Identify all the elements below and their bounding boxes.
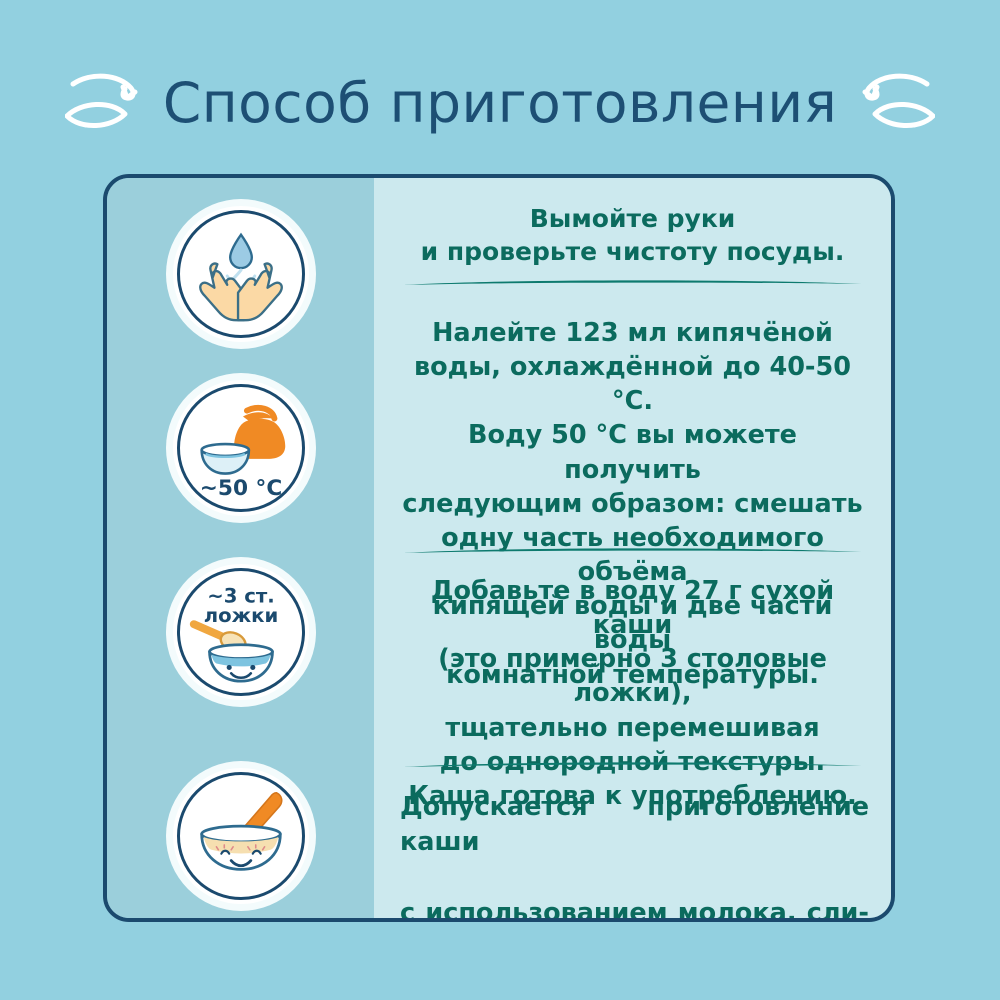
porridge-bowl-spoon-icon: [173, 768, 309, 904]
kettle-pouring-bowl-icon: ~50 °C: [173, 380, 309, 516]
divider-1: [402, 278, 863, 288]
page-title: Способ приготовления: [163, 76, 837, 131]
svg-text:ложки: ложки: [203, 604, 278, 627]
text-column: Вымойте руки и проверьте чистоту посуды.…: [374, 178, 891, 918]
step-4-line-2: с использованием молока, сли-: [400, 896, 869, 922]
step-3-line-2: (это примерно 3 столовые ложки),: [396, 642, 869, 710]
step-2-line-3: Воду 50 °C вы можете получить: [396, 418, 869, 486]
leaf-flourish-icon: [65, 68, 145, 138]
divider-3: [402, 760, 863, 770]
step-3-line-3: тщательно перемешивая: [396, 711, 869, 745]
title-row: Способ приготовления: [0, 58, 1000, 148]
spoon-pouring-bowl-icon: ~3 ст. ложки: [173, 564, 309, 700]
divider-2: [402, 546, 863, 556]
step-1-line-1: Вымойте руки: [396, 202, 869, 235]
step-2-line-1: Налейте 123 мл кипячёной: [396, 316, 869, 350]
step-1-text: Вымойте руки и проверьте чистоту посуды.: [374, 202, 891, 268]
svg-text:~50 °C: ~50 °C: [199, 476, 281, 501]
step-2-line-2: воды, охлаждённой до 40-50 °C.: [396, 350, 869, 418]
step-2-line-4: следующим образом: смешать: [396, 487, 869, 521]
step-3-text: Добавьте в воду 27 г сухой каши (это при…: [374, 574, 891, 813]
step-4-text: Допускается приготовление каши с использ…: [374, 790, 891, 922]
washing-hands-icon: [173, 206, 309, 342]
leaf-flourish-icon: [855, 68, 935, 138]
step-3-line-1: Добавьте в воду 27 г сухой каши: [396, 574, 869, 642]
step-1-line-2: и проверьте чистоту посуды.: [396, 235, 869, 268]
instructions-panel: ~50 °C ~3 ст. ложки: [103, 174, 895, 922]
step-4-line-1: Допускается приготовление каши: [400, 790, 869, 896]
icon-column: ~50 °C ~3 ст. ложки: [107, 178, 374, 918]
